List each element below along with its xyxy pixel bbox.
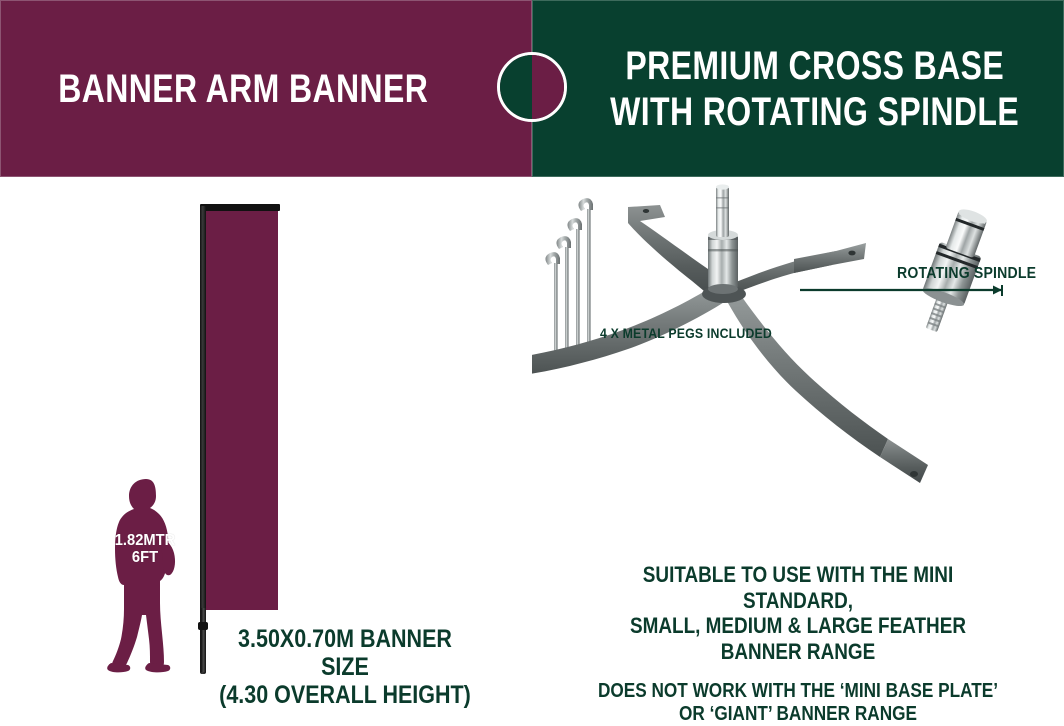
spindle-leader-arrow [800, 285, 1002, 296]
centre-spindle [708, 184, 738, 294]
split-circle-right-half [532, 55, 564, 119]
peg-hole [910, 471, 918, 477]
header-right-title-wrap: PREMIUM CROSS BASE WITH ROTATING SPINDLE [532, 0, 1064, 177]
peg-hole [848, 251, 855, 256]
cross-arm [728, 285, 888, 457]
spindle-label: ROTATING SPINDLE [897, 265, 1036, 283]
left-section: 1.82MTR 6FT 3.50X0.70M BANNER SIZE (4.30… [0, 177, 532, 710]
cross-arm-tip [880, 439, 928, 483]
banner-size-line1: 3.50X0.70M BANNER SIZE [212, 625, 479, 681]
cross-arm-tip [794, 243, 866, 273]
banner-arm-flag [196, 204, 282, 674]
poster-canvas: BANNER ARM BANNER PREMIUM CROSS BASE WIT… [0, 0, 1064, 710]
flag-top-arm [200, 204, 280, 211]
header: BANNER ARM BANNER PREMIUM CROSS BASE WIT… [0, 0, 1064, 177]
note-suitable-line2: SMALL, MEDIUM & LARGE FEATHER BANNER RAN… [592, 613, 1005, 664]
header-left-title: BANNER ARM BANNER [58, 69, 428, 109]
note-suitable-line1: SUITABLE TO USE WITH THE MINI STANDARD, [592, 562, 1005, 613]
note-incompatible-line2: OR ‘GIANT’ BANNER RANGE [592, 703, 1005, 726]
note-incompatible-line1: DOES NOT WORK WITH THE ‘MINI BASE PLATE’ [592, 680, 1005, 703]
compatibility-notes: SUITABLE TO USE WITH THE MINI STANDARD, … [558, 562, 1038, 726]
header-right-title-line2: WITH ROTATING SPINDLE [611, 92, 1020, 132]
flag-pole-foot [198, 622, 208, 630]
banner-size-caption: 3.50X0.70M BANNER SIZE (4.30 OVERALL HEI… [212, 625, 479, 709]
note-incompatible: DOES NOT WORK WITH THE ‘MINI BASE PLATE’… [592, 680, 1005, 726]
metal-pegs-group [545, 198, 593, 367]
split-circle-icon [497, 52, 567, 122]
header-left-title-wrap: BANNER ARM BANNER [0, 0, 532, 177]
person-silhouette-icon [106, 477, 184, 673]
note-suitable: SUITABLE TO USE WITH THE MINI STANDARD, … [592, 562, 1005, 664]
header-right-title-line1: PREMIUM CROSS BASE [626, 46, 1005, 86]
flag-pole [200, 206, 206, 674]
pegs-label: 4 X METAL PEGS INCLUDED [600, 325, 772, 341]
flag-fabric [206, 210, 278, 610]
cross-base-product-image [532, 177, 1064, 537]
right-section: 4 X METAL PEGS INCLUDED ROTATING SPINDLE… [532, 177, 1064, 710]
peg-hole [643, 209, 649, 213]
split-circle-left-half [500, 55, 532, 119]
flag-pole-lower [201, 608, 206, 672]
banner-size-line2: (4.30 OVERALL HEIGHT) [212, 681, 479, 709]
